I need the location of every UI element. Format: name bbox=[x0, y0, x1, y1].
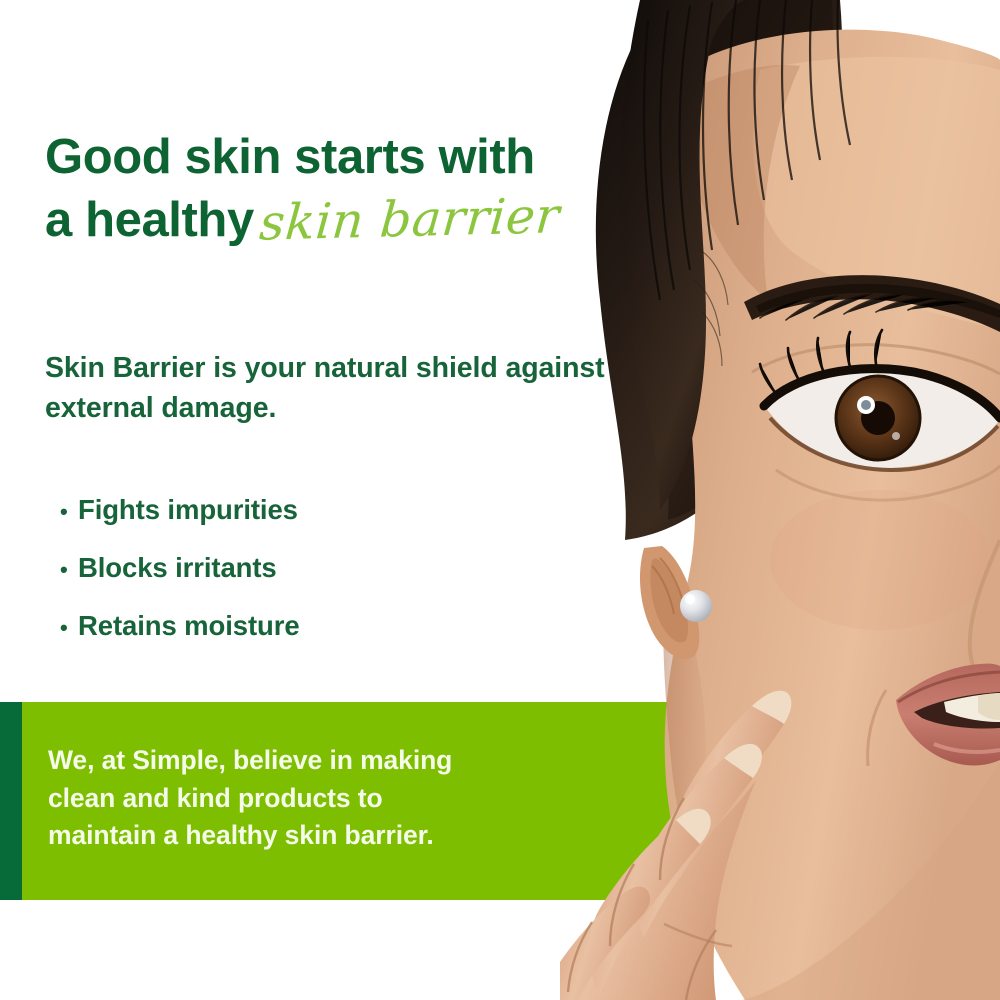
list-item: • Blocks irritants bbox=[60, 552, 580, 584]
banner-line-3: maintain a healthy skin barrier. bbox=[48, 817, 588, 855]
headline-script-phrase: skin barrier bbox=[251, 185, 562, 255]
list-item: • Retains moisture bbox=[60, 610, 580, 642]
brand-statement-banner: We, at Simple, believe in making clean a… bbox=[0, 702, 700, 900]
banner-line-2: clean and kind products to bbox=[48, 780, 588, 818]
headline-line-1: Good skin starts with bbox=[45, 126, 645, 189]
bullet-dot-icon: • bbox=[60, 617, 78, 639]
pearl-earring bbox=[680, 590, 712, 622]
list-item-label: Fights impurities bbox=[78, 494, 298, 526]
banner-line-1: We, at Simple, believe in making bbox=[48, 742, 588, 780]
banner-text-block: We, at Simple, believe in making clean a… bbox=[48, 742, 588, 855]
list-item-label: Retains moisture bbox=[78, 610, 300, 642]
bullet-dot-icon: • bbox=[60, 559, 78, 581]
marketing-banner-page: We, at Simple, believe in making clean a… bbox=[0, 0, 1000, 1000]
list-item-label: Blocks irritants bbox=[78, 552, 277, 584]
page-title: Good skin starts with a healthyskin barr… bbox=[45, 126, 645, 251]
list-item: • Fights impurities bbox=[60, 494, 580, 526]
benefits-list: • Fights impurities • Blocks irritants •… bbox=[60, 494, 580, 668]
banner-accent-stripe bbox=[0, 702, 22, 900]
bullet-dot-icon: • bbox=[60, 501, 78, 523]
lead-paragraph: Skin Barrier is your natural shield agai… bbox=[45, 348, 605, 429]
headline-line-2: a healthyskin barrier bbox=[45, 189, 645, 252]
headline-line-2-plain: a healthy bbox=[45, 193, 254, 247]
